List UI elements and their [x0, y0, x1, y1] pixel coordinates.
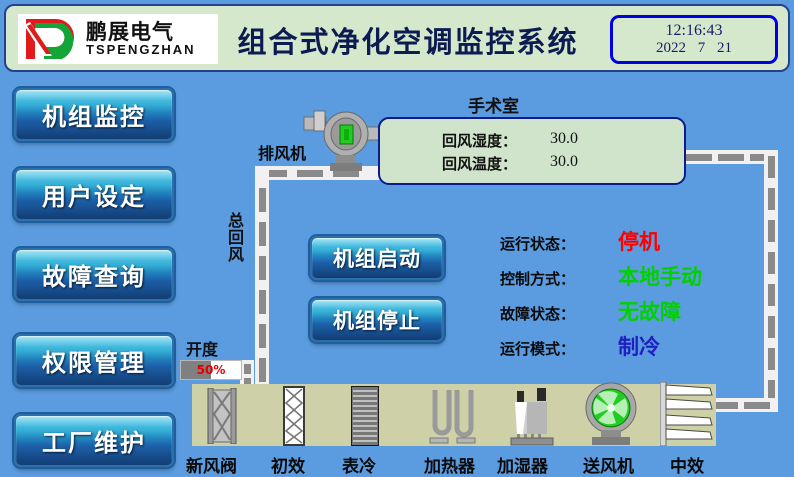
return-humidity-label: 回风湿度： [442, 130, 550, 151]
clock-date: 2022 7 21 [652, 40, 736, 57]
clock-display: 12:16:43 2022 7 21 [610, 15, 778, 64]
status-list: 运行状态： 停机 控制方式： 本地手动 故障状态： 无故障 运行模式： 制冷 [500, 226, 702, 366]
logo-pinyin-name: TSPENGZHAN [86, 43, 196, 57]
run-mode-label: 运行模式： [500, 338, 596, 359]
damper-opening-value: 50% [181, 361, 241, 379]
duct-flow-dash [259, 290, 266, 314]
damper-opening-label: 开度 [186, 336, 218, 360]
equipment-label-bag-filter: 中效 [670, 452, 704, 477]
logo-chinese-name: 鹏展电气 [86, 21, 196, 43]
exhaust-fan-icon [300, 105, 388, 171]
duct-flow-dash [686, 154, 712, 161]
equipment-label-humidifier: 加湿器 [497, 452, 548, 477]
bag-filter-icon [660, 382, 718, 446]
sidebar-item-user-settings[interactable]: 用户设定 [14, 168, 174, 221]
duct-flow-dash [333, 170, 359, 177]
duct-flow-dash [768, 316, 775, 338]
room-reading-row: 回风湿度： 30.0 [442, 130, 684, 151]
clock-month: 7 [698, 40, 706, 56]
app-header: 鹏展电气 TSPENGZHAN 组合式净化空调监控系统 12:16:43 202… [4, 4, 790, 72]
duct-flow-dash [768, 188, 775, 210]
duct-flow-dash [718, 154, 744, 161]
brand-mark-icon [22, 16, 84, 62]
equipment-label-heater: 加热器 [424, 452, 475, 477]
status-row-fault-state: 故障状态： 无故障 [500, 296, 702, 331]
duct-flow-dash [259, 188, 266, 212]
duct-flow-dash [768, 220, 775, 242]
page-title: 组合式净化空调监控系统 [228, 19, 588, 61]
room-reading-row: 回风温度： 30.0 [442, 153, 684, 174]
duct-flow-dash [259, 358, 266, 382]
heater-icon [427, 388, 481, 446]
fresh-air-damper-icon [206, 388, 238, 444]
control-mode-label: 控制方式： [500, 268, 596, 289]
equipment-label-supply-fan: 送风机 [583, 452, 634, 477]
equipment-label-cooling-coil: 表冷 [342, 452, 376, 477]
fault-state-value: 无故障 [618, 296, 681, 326]
duct-flow-dash [768, 156, 775, 178]
duct-flow-dash [768, 252, 775, 274]
status-row-control-mode: 控制方式： 本地手动 [500, 261, 702, 296]
status-row-run-mode: 运行模式： 制冷 [500, 331, 702, 366]
fault-state-label: 故障状态： [500, 303, 596, 324]
unit-start-button[interactable]: 机组启动 [310, 236, 444, 280]
room-title: 手术室 [468, 92, 519, 117]
room-readings-panel: 回风湿度： 30.0 回风温度： 30.0 [378, 117, 686, 185]
control-mode-value: 本地手动 [618, 261, 702, 291]
sidebar-item-permissions[interactable]: 权限管理 [14, 334, 174, 387]
duct-supply-vertical [764, 150, 778, 412]
unit-stop-button[interactable]: 机组停止 [310, 298, 444, 342]
supply-fan-icon [578, 382, 644, 446]
duct-return-vertical [255, 166, 269, 394]
run-state-label: 运行状态： [500, 233, 596, 254]
duct-flow-dash [244, 364, 251, 374]
return-temperature-value: 30.0 [550, 153, 578, 174]
equipment-label-fresh-air-damper: 新风阀 [186, 452, 237, 477]
return-temperature-label: 回风温度： [442, 153, 550, 174]
return-air-label: 总回风 [222, 212, 246, 263]
run-state-value: 停机 [618, 226, 660, 256]
duct-flow-dash [297, 170, 323, 177]
sidebar-item-factory-maintenance[interactable]: 工厂维护 [14, 414, 174, 467]
humidifier-icon [503, 386, 565, 446]
sidebar-item-unit-monitor[interactable]: 机组监控 [14, 88, 174, 141]
duct-flow-dash [768, 284, 775, 306]
duct-flow-dash [259, 222, 266, 246]
duct-flow-dash [259, 256, 266, 280]
equipment-label-primary-filter: 初效 [271, 452, 305, 477]
clock-time: 12:16:43 [666, 22, 723, 40]
duct-flow-dash [768, 348, 775, 370]
sidebar-item-fault-query[interactable]: 故障查询 [14, 248, 174, 301]
run-mode-value: 制冷 [618, 331, 660, 361]
cooling-coil-icon [351, 386, 379, 446]
status-row-run-state: 运行状态： 停机 [500, 226, 702, 261]
return-humidity-value: 30.0 [550, 130, 578, 151]
primary-filter-icon [283, 386, 305, 446]
duct-flow-dash [259, 324, 266, 348]
clock-year: 2022 [656, 40, 686, 56]
company-logo: 鹏展电气 TSPENGZHAN [18, 14, 218, 64]
exhaust-fan-label: 排风机 [258, 140, 306, 164]
duct-flow-dash [744, 402, 770, 409]
damper-opening-bar[interactable]: 50% [180, 360, 242, 380]
clock-day: 21 [717, 40, 732, 56]
